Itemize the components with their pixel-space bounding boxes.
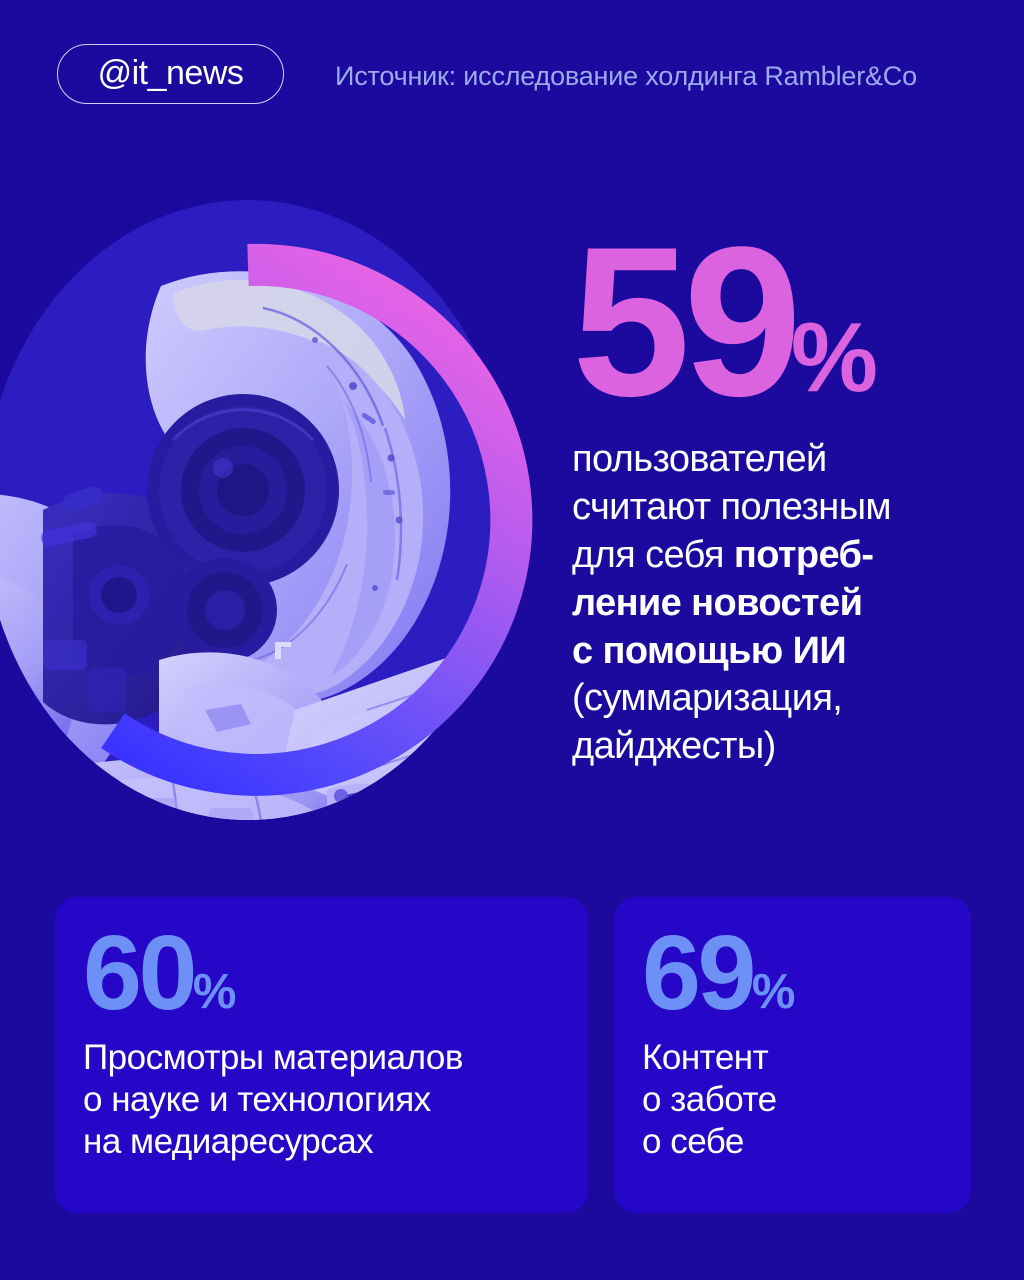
stat-card-science-tech-percentage: 60% bbox=[83, 919, 572, 1023]
channel-badge[interactable]: @it_news bbox=[57, 44, 284, 104]
donut-ring bbox=[0, 180, 558, 860]
stat-card-science-tech-percent-sign: % bbox=[193, 968, 235, 1023]
hero-desc-line-2: считают полезным bbox=[572, 486, 891, 528]
hero-stat: 59% пользователей считают полезным для с… bbox=[572, 214, 1002, 771]
hero-percentage-value: 59 bbox=[572, 231, 795, 414]
stat-card-science-tech-value: 60 bbox=[83, 925, 194, 1023]
stat-card-self-care-value: 69 bbox=[642, 925, 753, 1023]
stat-card-self-care: 69% Контент о заботе о себе bbox=[614, 897, 971, 1213]
hero-desc-line-1: пользователей bbox=[572, 438, 827, 480]
hero-desc-line-7: дайджесты) bbox=[572, 725, 776, 767]
hero-desc-line-6: (суммаризация, bbox=[572, 677, 842, 719]
infographic-canvas: @it_news Источник: исследование холдинга… bbox=[0, 0, 1024, 1280]
channel-badge-label: @it_news bbox=[98, 56, 244, 90]
hero-description: пользователей считают полезным для себя … bbox=[572, 436, 1002, 771]
donut-arc-filled bbox=[113, 265, 511, 775]
donut-chart bbox=[0, 180, 558, 860]
hero-desc-line-3a: для себя bbox=[572, 534, 734, 576]
hero-percentage: 59% bbox=[572, 214, 1002, 414]
stat-card-science-tech: 60% Просмотры материалов о науке и техно… bbox=[55, 897, 588, 1213]
stat-card-self-care-percentage: 69% bbox=[642, 919, 955, 1023]
hero-desc-line-3b: потреб- bbox=[734, 534, 874, 576]
stat-cards: 60% Просмотры материалов о науке и техно… bbox=[55, 897, 971, 1213]
stat-card-self-care-label: Контент о заботе о себе bbox=[642, 1037, 955, 1163]
hero-desc-line-5: с помощью ИИ bbox=[572, 630, 846, 672]
source-attribution: Источник: исследование холдинга Rambler&… bbox=[335, 63, 917, 90]
stat-card-science-tech-label: Просмотры материалов о науке и технологи… bbox=[83, 1037, 572, 1163]
stat-card-self-care-percent-sign: % bbox=[752, 968, 794, 1023]
stat-card-science-tech-content: 60% Просмотры материалов о науке и техно… bbox=[83, 919, 572, 1163]
header: @it_news Источник: исследование холдинга… bbox=[0, 0, 1024, 148]
stat-card-self-care-content: 69% Контент о заботе о себе bbox=[642, 919, 955, 1163]
hero-desc-line-4: ление новостей bbox=[572, 582, 862, 624]
hero-percent-sign: % bbox=[791, 308, 875, 414]
